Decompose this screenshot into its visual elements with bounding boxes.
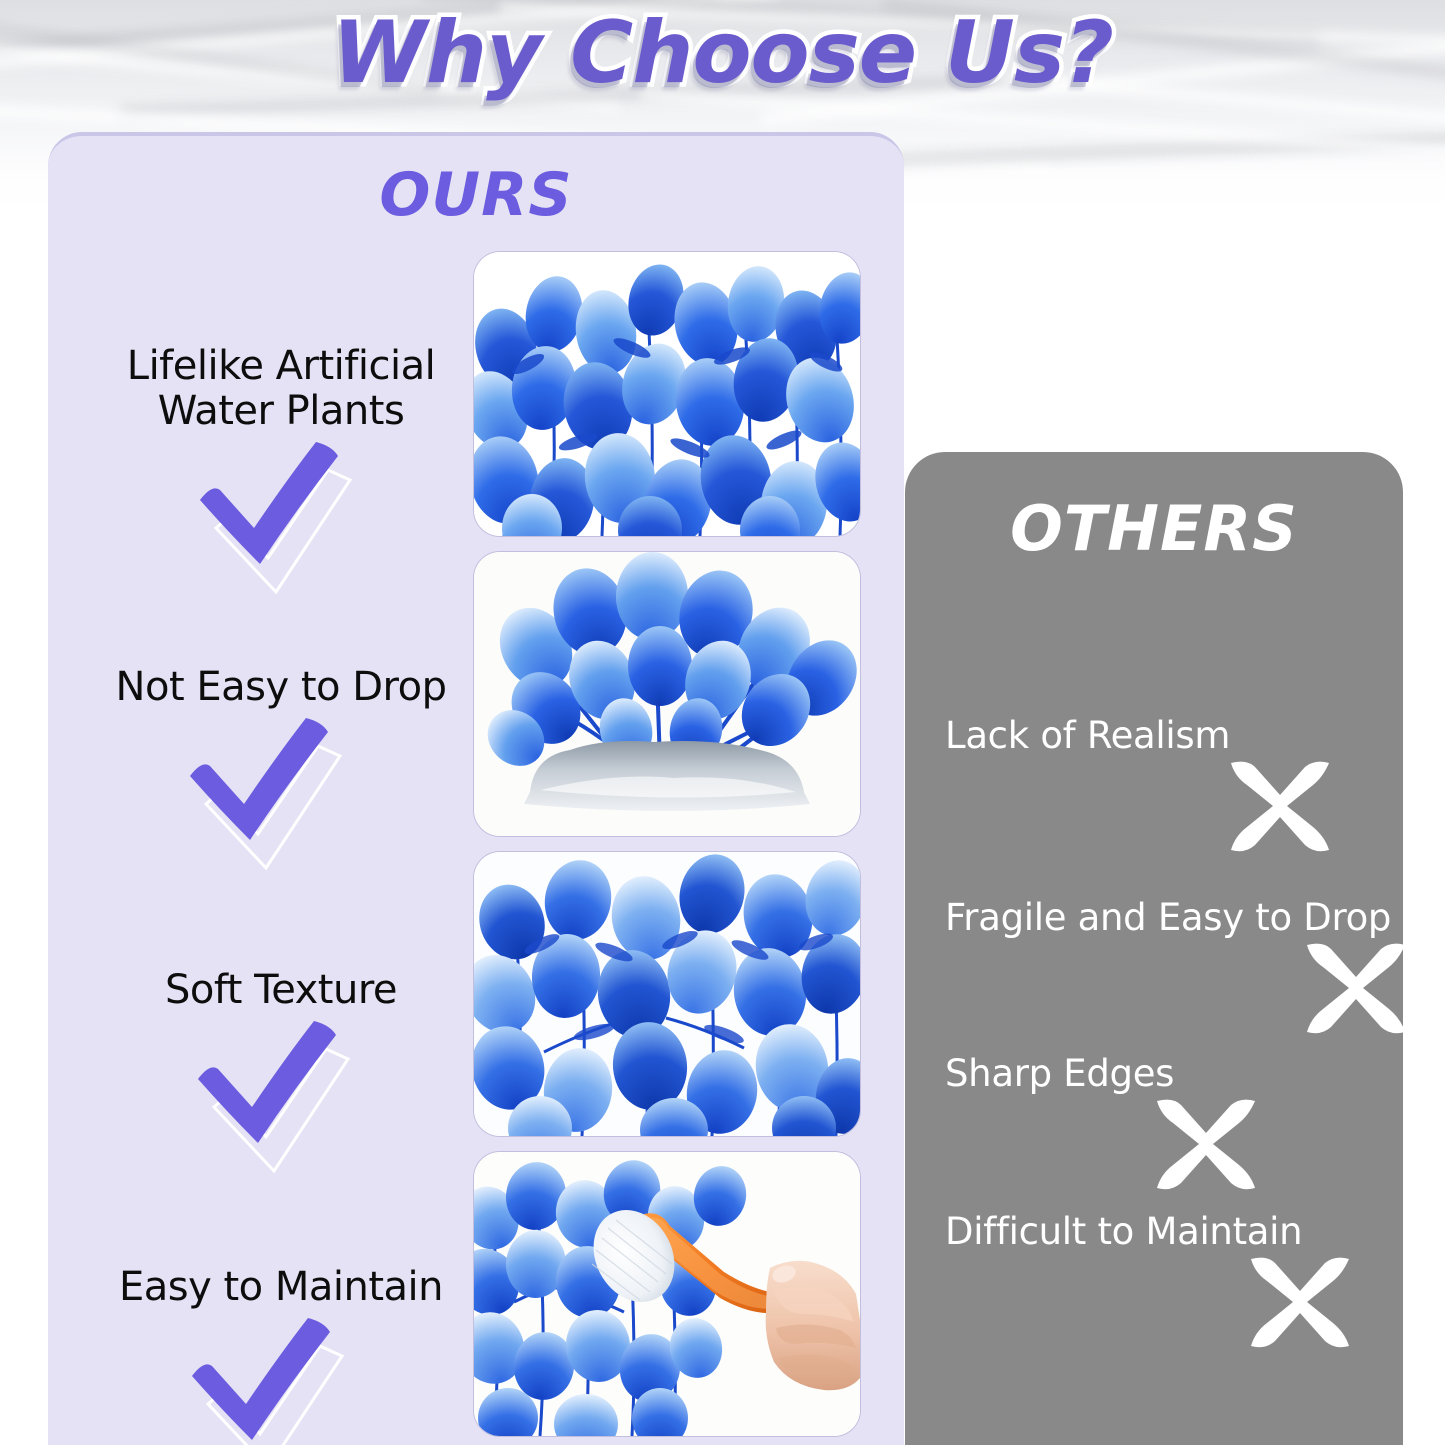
page-title: Why Choose Us? [0,8,1445,98]
check-mark-glyph [186,716,336,846]
x-mark-icon-3 [1151,1097,1261,1192]
x-mark-glyph [1225,759,1335,854]
cleaning-artwork [474,1152,860,1436]
check-mark-icon-4 [188,1316,338,1445]
photo-plant-cluster-on-rock-base [474,552,860,836]
x-mark-icon-1 [1225,759,1335,854]
plant-artwork-soft [474,852,860,1136]
check-mark-glyph [194,1019,344,1149]
x-mark-icon-2 [1301,941,1403,1036]
feature-row-3: Soft Texture [76,968,486,1149]
others-heading: OTHERS [905,492,1403,565]
check-mark-icon-1 [196,440,346,570]
con-label-3: Sharp Edges [945,1052,1403,1095]
photo-hand-brushing-plants-clean [474,1152,860,1436]
photo-soft-blue-fronds-closeup [474,852,860,1136]
check-mark-glyph [188,1316,338,1445]
others-panel: OTHERS Lack of Realism Fragile and Easy … [905,452,1403,1445]
con-row-2: Fragile and Easy to Drop [905,896,1403,1036]
feature-label-3: Soft Texture [76,968,486,1013]
con-row-3: Sharp Edges [905,1052,1403,1192]
x-mark-glyph [1245,1255,1355,1350]
con-row-4: Difficult to Maintain [905,1210,1403,1350]
check-mark-glyph [196,440,346,570]
infographic-canvas: Why Choose Us? OURS Lifelike Artificial … [0,0,1445,1445]
ours-heading: OURS [48,160,904,230]
con-label-4: Difficult to Maintain [945,1210,1403,1253]
feature-row-4: Easy to Maintain [76,1265,486,1445]
con-row-1: Lack of Realism [905,714,1403,854]
feature-label-2: Not Easy to Drop [76,665,486,710]
feature-row-1: Lifelike Artificial Water Plants [76,344,486,570]
feature-row-2: Not Easy to Drop [76,665,486,846]
x-mark-icon-4 [1245,1255,1355,1350]
plant-artwork-cluster [474,552,860,836]
photo-dense-blue-water-plants [474,252,860,536]
check-mark-icon-3 [194,1019,344,1149]
con-label-2: Fragile and Easy to Drop [945,896,1403,939]
check-mark-icon-2 [186,716,336,846]
plant-artwork-dense [474,252,860,536]
x-mark-glyph [1301,941,1403,1036]
con-label-1: Lack of Realism [945,714,1403,757]
feature-label-1: Lifelike Artificial Water Plants [76,344,486,434]
x-mark-glyph [1151,1097,1261,1192]
feature-label-4: Easy to Maintain [76,1265,486,1310]
